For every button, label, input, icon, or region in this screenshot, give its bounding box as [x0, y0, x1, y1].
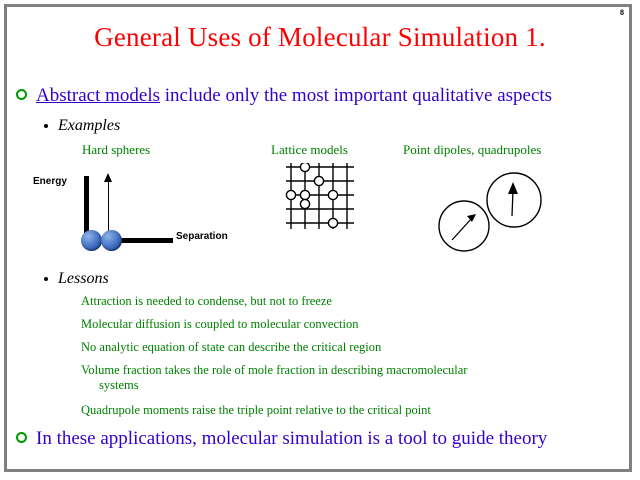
lattice-site-icon	[300, 163, 309, 172]
lattice-site-icon	[314, 176, 323, 185]
lesson-item-4-text: Volume fraction takes the role of mole f…	[81, 363, 467, 377]
sphere-icon-right	[101, 230, 122, 251]
example-label-hard-spheres: Hard spheres	[82, 142, 150, 158]
subbullet-examples-label: Examples	[58, 117, 120, 135]
dipole-arrow-head-right	[508, 182, 518, 194]
bullet-circle-icon	[16, 89, 27, 100]
bullet-applications: In these applications, molecular simulat…	[16, 428, 547, 450]
bullet-dot-icon	[44, 277, 48, 281]
separation-axis-bar	[114, 238, 173, 243]
dipoles-diagram	[432, 160, 552, 260]
dipole-arrow-head-left	[467, 214, 476, 222]
lattice-site-icon	[300, 199, 309, 208]
sphere-icon-left	[81, 230, 102, 251]
bullet-abstract-models-lead: Abstract models	[36, 85, 160, 106]
lesson-item-2: Molecular diffusion is coupled to molecu…	[81, 317, 358, 332]
page-title: General Uses of Molecular Simulation 1.	[0, 22, 640, 53]
dipole-arrow-shaft-left	[452, 218, 472, 240]
energy-axis-label: Energy	[33, 176, 67, 187]
bullet-dot-icon	[44, 124, 48, 128]
subbullet-examples: Examples	[44, 117, 120, 135]
slide-canvas: 8 General Uses of Molecular Simulation 1…	[0, 0, 640, 480]
lattice-diagram	[283, 163, 357, 233]
lesson-item-4-continuation: systems	[81, 378, 601, 393]
example-label-point-dipoles: Point dipoles, quadrupoles	[403, 142, 541, 158]
bullet-abstract-models-text: Abstract models include only the most im…	[36, 85, 552, 107]
dipole-circle-right	[487, 173, 541, 227]
bullet-applications-text: In these applications, molecular simulat…	[36, 428, 547, 450]
lesson-item-5: Quadrupole moments raise the triple poin…	[81, 403, 431, 418]
separation-axis-label: Separation	[176, 231, 228, 242]
bullet-abstract-models-rest: include only the most important qualitat…	[160, 85, 552, 106]
dipoles-svg	[432, 160, 552, 260]
example-label-lattice-models: Lattice models	[271, 142, 348, 158]
bullet-abstract-models: Abstract models include only the most im…	[16, 85, 552, 107]
lesson-item-4: Volume fraction takes the role of mole f…	[81, 363, 601, 393]
page-number: 8	[620, 8, 624, 17]
hard-spheres-diagram: Energy Separation	[28, 168, 258, 258]
lattice-site-icon	[286, 190, 295, 199]
lattice-site-icon	[300, 190, 309, 199]
lesson-item-1: Attraction is needed to condense, but no…	[81, 294, 332, 309]
lattice-site-icon	[328, 218, 337, 227]
subbullet-lessons-label: Lessons	[58, 270, 109, 288]
bullet-circle-icon	[16, 432, 27, 443]
lattice-grid-svg	[283, 163, 357, 233]
lattice-site-icon	[328, 190, 337, 199]
up-arrow-icon	[104, 173, 112, 182]
lesson-item-3: No analytic equation of state can descri…	[81, 340, 381, 355]
subbullet-lessons: Lessons	[44, 270, 109, 288]
